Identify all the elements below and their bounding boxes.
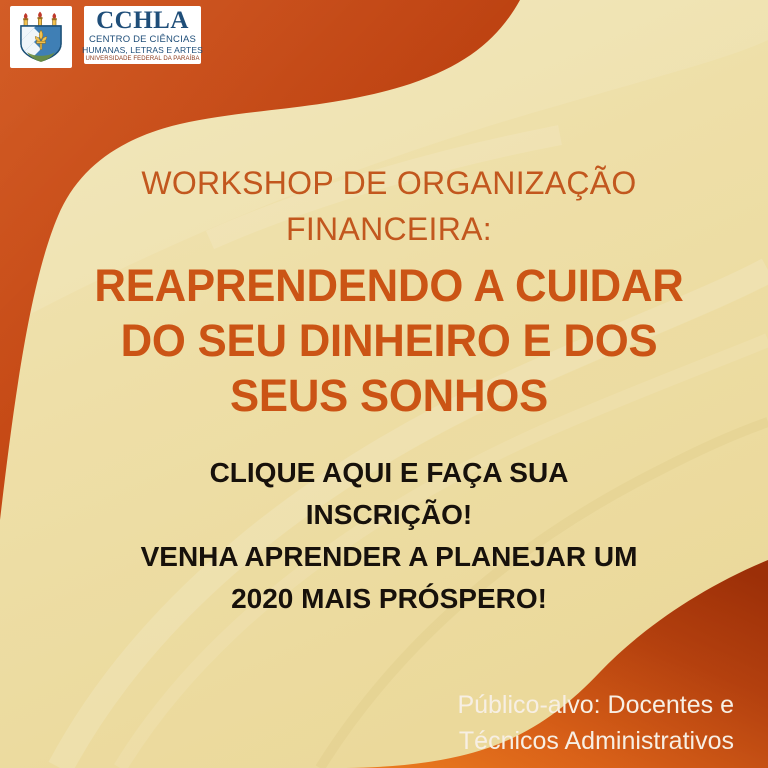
cchla-wordmark: CCHLA	[96, 8, 189, 33]
cchla-logo: CCHLA CENTRO DE CIÊNCIAS HUMANAS, LETRAS…	[84, 6, 201, 64]
cchla-line-2: HUMANAS, LETRAS E ARTES	[82, 45, 203, 55]
cchla-line-3: UNIVERSIDADE FEDERAL DA PARAÍBA	[85, 55, 199, 63]
kicker-line-2: FINANCEIRA:	[60, 206, 718, 252]
target-audience: Público-alvo: Docentes e Técnicos Admini…	[457, 687, 734, 759]
ufpb-crest-icon	[14, 10, 68, 64]
audience-line-2: Técnicos Administrativos	[457, 723, 734, 759]
kicker-line-1: WORKSHOP DE ORGANIZAÇÃO	[60, 160, 718, 206]
registration-callout[interactable]: CLIQUE AQUI E FAÇA SUA INSCRIÇÃO! VENHA …	[60, 452, 718, 620]
event-kicker: WORKSHOP DE ORGANIZAÇÃO FINANCEIRA:	[60, 160, 718, 252]
headline-line-3: SEUS SONHOS	[50, 368, 727, 423]
poster-content: WORKSHOP DE ORGANIZAÇÃO FINANCEIRA: REAP…	[0, 0, 768, 768]
headline-line-2: DO SEU DINHEIRO E DOS	[50, 313, 727, 368]
callout-line-4: 2020 MAIS PRÓSPERO!	[60, 578, 718, 620]
callout-line-3: VENHA APRENDER A PLANEJAR UM	[60, 536, 718, 578]
event-headline: REAPRENDENDO A CUIDAR DO SEU DINHEIRO E …	[50, 258, 727, 423]
poster-canvas: CCHLA CENTRO DE CIÊNCIAS HUMANAS, LETRAS…	[0, 0, 768, 768]
cchla-line-1: CENTRO DE CIÊNCIAS	[89, 34, 196, 45]
callout-line-2: INSCRIÇÃO!	[60, 494, 718, 536]
callout-line-1: CLIQUE AQUI E FAÇA SUA	[60, 452, 718, 494]
headline-line-1: REAPRENDENDO A CUIDAR	[50, 258, 727, 313]
audience-line-1: Público-alvo: Docentes e	[457, 687, 734, 723]
ufpb-logo	[10, 6, 72, 68]
logo-strip: CCHLA CENTRO DE CIÊNCIAS HUMANAS, LETRAS…	[10, 6, 201, 68]
